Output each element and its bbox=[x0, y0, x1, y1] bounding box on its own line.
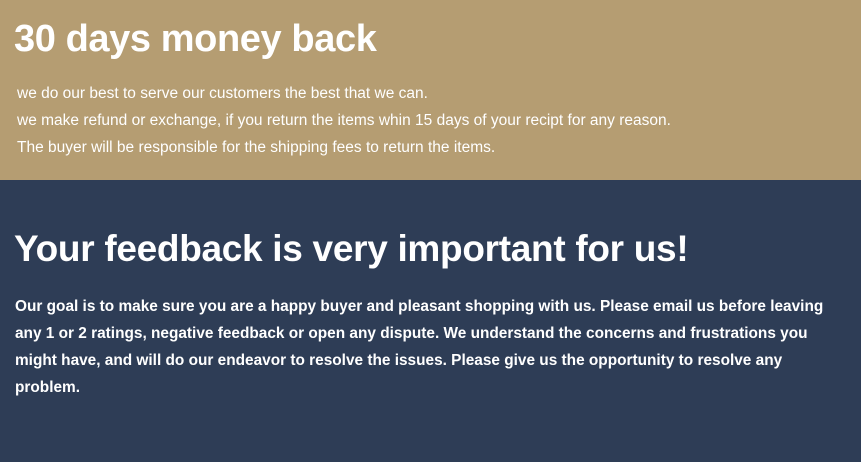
money-back-section: 30 days money back we do our best to ser… bbox=[0, 0, 861, 180]
policy-line-3: The buyer will be responsible for the sh… bbox=[17, 134, 671, 161]
feedback-section: Your feedback is very important for us! … bbox=[0, 180, 861, 462]
feedback-title: Your feedback is very important for us! bbox=[14, 227, 688, 271]
money-back-title: 30 days money back bbox=[14, 16, 376, 62]
feedback-body-text: Our goal is to make sure you are a happy… bbox=[15, 293, 848, 401]
policy-line-1: we do our best to serve our customers th… bbox=[17, 80, 671, 107]
policy-banner: 30 days money back we do our best to ser… bbox=[0, 0, 861, 462]
policy-line-2: we make refund or exchange, if you retur… bbox=[17, 107, 671, 134]
money-back-policy-list: we do our best to serve our customers th… bbox=[17, 80, 671, 161]
